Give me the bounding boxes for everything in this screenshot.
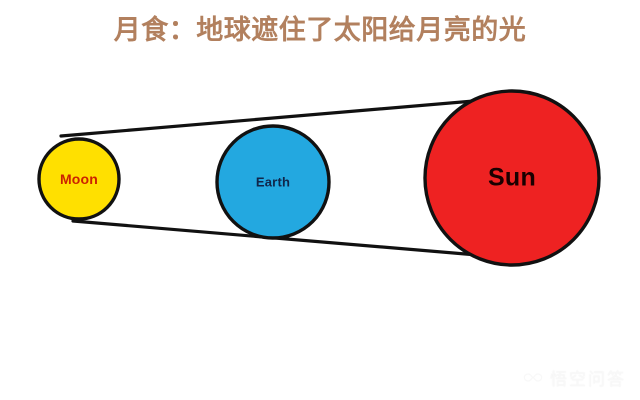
watermark: 悟空问答: [522, 365, 626, 390]
moon-label: Moon: [60, 171, 98, 187]
watermark-text: 悟空问答: [550, 365, 626, 390]
diagram-canvas: 月食：地球遮住了太阳给月亮的光 Moon Earth Sun 悟空问答: [0, 0, 640, 400]
earth-label: Earth: [256, 175, 290, 190]
infinity-logo-icon: [522, 371, 544, 384]
page-title: 月食：地球遮住了太阳给月亮的光: [0, 14, 640, 48]
sun-label: Sun: [488, 164, 536, 193]
lunar-eclipse-diagram: [0, 0, 640, 400]
